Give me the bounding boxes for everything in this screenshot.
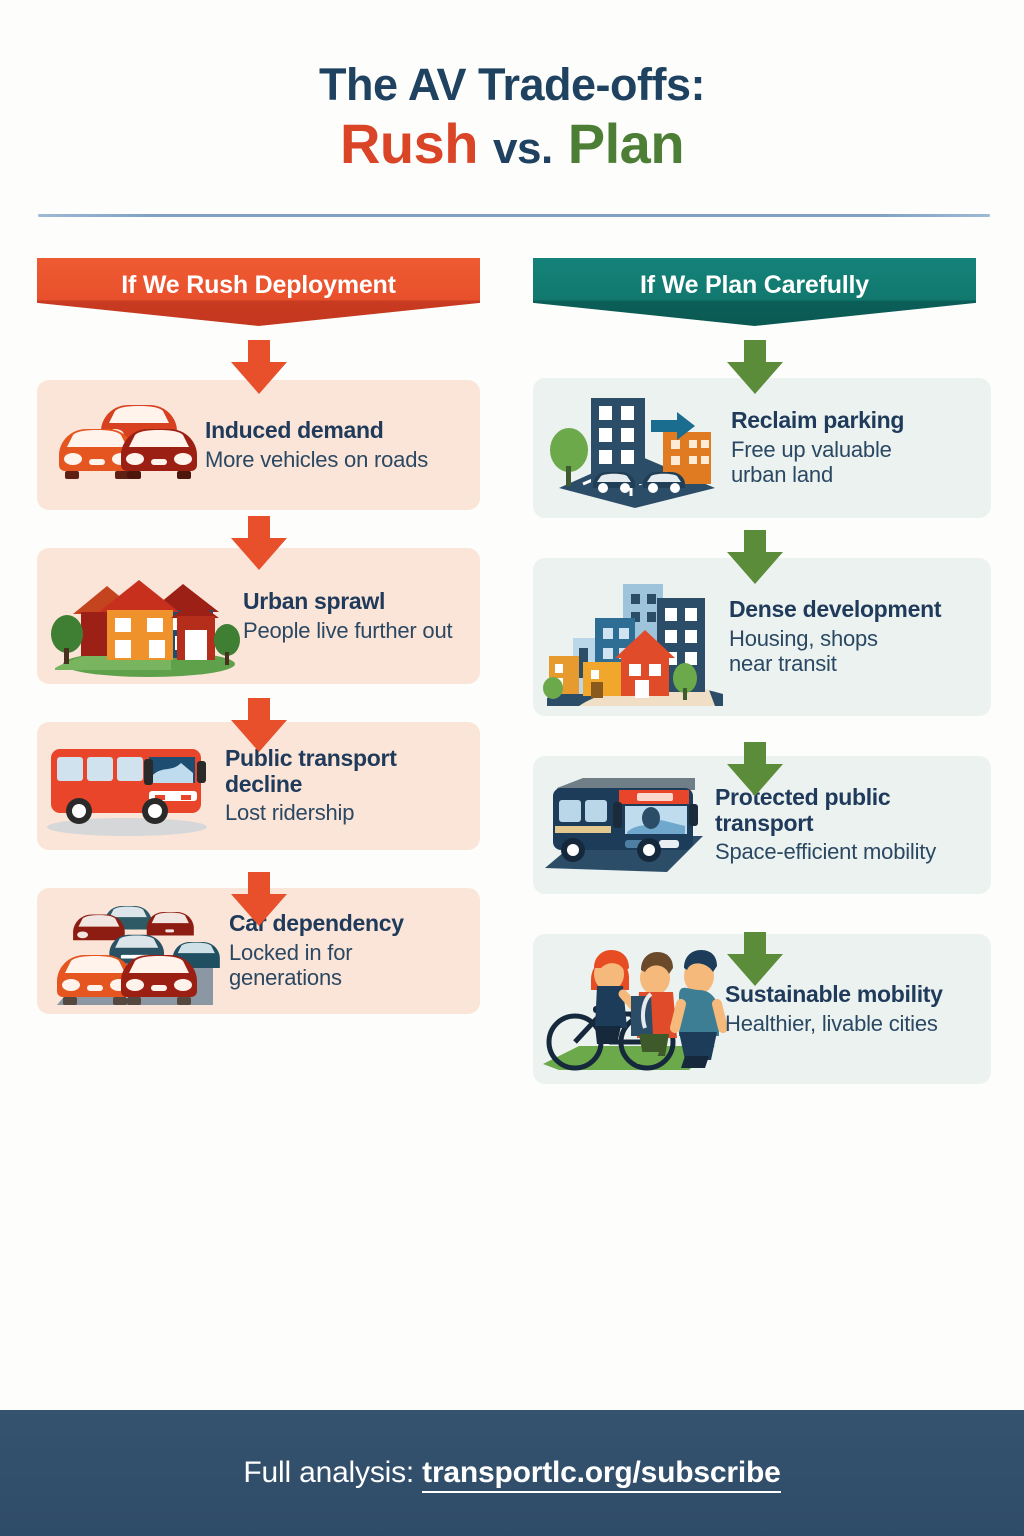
title-line-2: Rush vs. Plan (0, 113, 1024, 176)
card-subtitle: Healthier, livable cities (725, 1011, 943, 1037)
card-text-block: Sustainable mobility Healthier, livable … (725, 982, 943, 1036)
card-text-block: Reclaim parking Free up valuable urban l… (731, 408, 904, 488)
page-title: The AV Trade-offs: Rush vs. Plan (0, 62, 1024, 176)
card-subtitle: Lost ridership (225, 800, 472, 826)
card-title: Urban sprawl (243, 589, 452, 615)
plan-banner-label: If We Plan Carefully (640, 258, 869, 300)
title-word-plan: Plan (568, 112, 684, 175)
card-subtitle: Housing, shops near transit (729, 626, 941, 677)
three-cars-icon (51, 391, 201, 499)
arrow-down-red-2 (231, 516, 287, 570)
arrow-down-green-1 (727, 340, 783, 394)
parking-conversion-icon (543, 384, 729, 512)
suburban-houses-icon (51, 556, 241, 676)
red-bus-icon (45, 731, 217, 841)
plan-column: If We Plan Carefully (533, 258, 991, 1084)
card-subtitle: Free up valuable urban land (731, 437, 904, 488)
arrow-down-red-4 (231, 872, 287, 926)
footer-url-link[interactable]: transportlc.org/subscribe (422, 1456, 780, 1493)
card-reclaim-parking[interactable]: Reclaim parking Free up valuable urban l… (533, 378, 991, 518)
footer-label: Full analysis: (243, 1456, 422, 1489)
infographic-page: The AV Trade-offs: Rush vs. Plan If We R… (0, 0, 1024, 1536)
title-line-1: The AV Trade-offs: (0, 62, 1024, 107)
rush-banner-label: If We Rush Deployment (121, 258, 396, 300)
arrow-down-red-3 (231, 698, 287, 752)
cyclist-pedestrians-icon (539, 938, 725, 1080)
arrow-down-green-4 (727, 932, 783, 986)
title-word-vs: vs. (493, 124, 553, 173)
footer-cta[interactable]: Full analysis: transportlc.org/subscribe (243, 1456, 780, 1490)
card-subtitle: People live further out (243, 618, 452, 644)
traffic-jam-icon (47, 893, 223, 1009)
plan-banner: If We Plan Carefully (533, 258, 976, 326)
card-title: Dense development (729, 597, 941, 623)
rush-column: If We Rush Deployment (37, 258, 480, 1014)
title-divider (38, 214, 990, 217)
card-text-block: Public transport decline Lost ridership (225, 746, 472, 826)
card-induced-demand[interactable]: Induced demand More vehicles on roads (37, 380, 480, 510)
card-subtitle: More vehicles on roads (205, 447, 428, 473)
dense-city-icon (539, 562, 729, 712)
card-title: Reclaim parking (731, 408, 904, 434)
card-subtitle: Space-efficient mobility (715, 839, 985, 865)
footer-bar: Full analysis: transportlc.org/subscribe (0, 1410, 1024, 1536)
blue-bus-icon (539, 764, 709, 886)
card-text-block: Dense development Housing, shops near tr… (729, 597, 941, 677)
card-text-block: Urban sprawl People live further out (243, 589, 452, 643)
card-text-block: Protected public transport Space-efficie… (715, 785, 985, 865)
rush-banner: If We Rush Deployment (37, 258, 480, 326)
arrow-down-green-2 (727, 530, 783, 584)
card-title: Public transport decline (225, 746, 472, 798)
card-title: Induced demand (205, 418, 428, 444)
card-text-block: Induced demand More vehicles on roads (205, 418, 428, 472)
arrow-down-green-3 (727, 742, 783, 796)
card-subtitle: Locked in for generations (229, 940, 470, 991)
title-word-rush: Rush (340, 112, 478, 175)
arrow-down-red-1 (231, 340, 287, 394)
